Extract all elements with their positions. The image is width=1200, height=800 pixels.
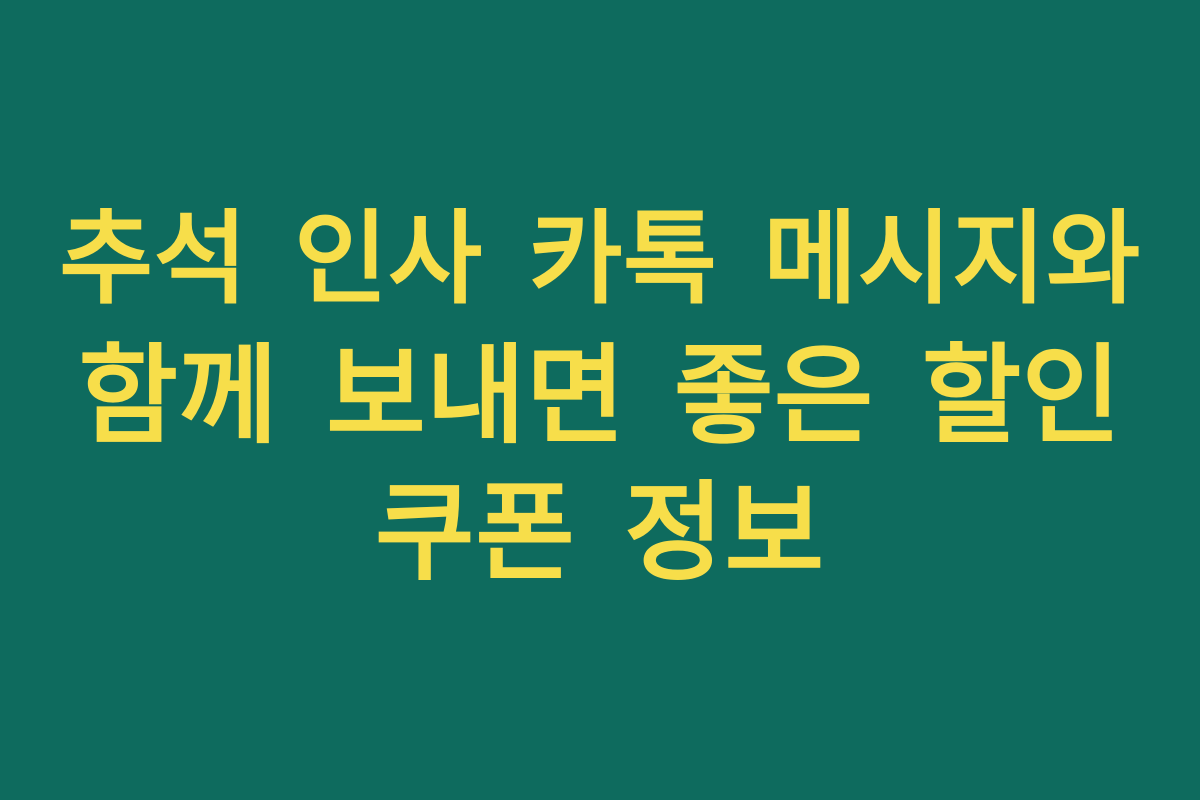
- title-text-block: 추석 인사 카톡 메시지와 함께 보내면 좋은 할인 쿠폰 정보: [40, 191, 1160, 602]
- title-line-3: 쿠폰 정보: [56, 465, 1144, 602]
- title-line-2: 함께 보내면 좋은 할인: [56, 328, 1144, 465]
- title-line-1: 추석 인사 카톡 메시지와: [56, 191, 1144, 328]
- thumbnail-card: 추석 인사 카톡 메시지와 함께 보내면 좋은 할인 쿠폰 정보: [0, 0, 1200, 800]
